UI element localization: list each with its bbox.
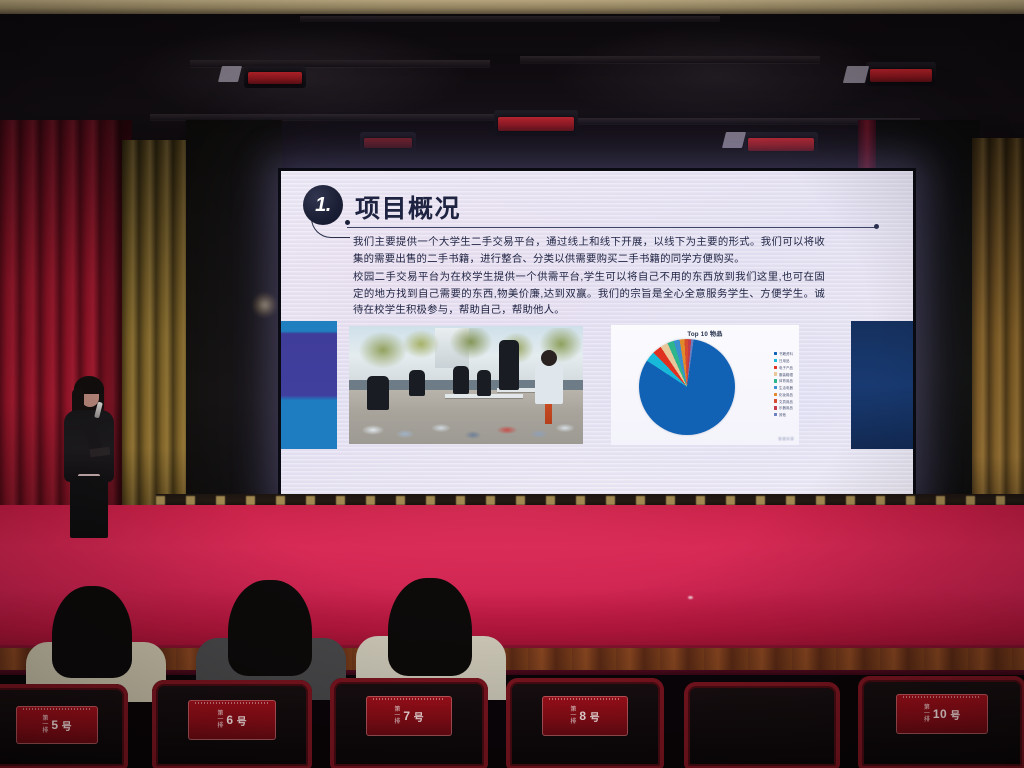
legend-swatch	[774, 352, 777, 355]
legend-swatch	[774, 413, 777, 416]
photo-person-light-shirt	[535, 364, 563, 404]
barn-door-flap	[218, 66, 242, 82]
plate-dot-border	[903, 696, 981, 698]
photo-person-head	[541, 350, 557, 366]
photo-person	[453, 366, 469, 394]
legend-label: 书籍资料	[779, 351, 793, 356]
projection-screen: 1. 项目概况 我们主要提供一个大学生二手交易平台，通过线上和线下开展，以线下为…	[278, 168, 916, 504]
slide-body-text: 我们主要提供一个大学生二手交易平台，通过线上和线下开展，以线下为主要的形式。我们…	[353, 235, 825, 321]
legend-item: 乐器用品	[774, 405, 793, 410]
legend-item: 化妆用品	[774, 392, 793, 397]
legend-item: 体育用品	[774, 378, 793, 383]
seat-unit: 号	[237, 713, 247, 728]
legend-item: 日用品	[774, 358, 793, 363]
presentation-slide: 1. 项目概况 我们主要提供一个大学生二手交易平台，通过线上和线下开展，以线下为…	[281, 171, 913, 501]
theater-seat[interactable]	[684, 682, 840, 768]
seat-unit: 号	[950, 707, 960, 722]
wall-spot-glow	[252, 292, 278, 318]
theater-seat[interactable]: 第 一 排 5 号	[0, 684, 128, 768]
chart-watermark: 数据来源	[778, 437, 794, 442]
seat-row-label: 第一排	[570, 707, 576, 726]
legend-item: 生活电器	[774, 385, 793, 390]
pie-chart	[639, 339, 735, 435]
stage-lamp	[870, 69, 932, 82]
stage-lamp	[748, 138, 814, 151]
seat-row-label: 第一排	[217, 711, 223, 730]
seat-row-char-3: 排	[42, 728, 48, 734]
slide-photo-flea-market	[349, 326, 583, 444]
legend-swatch	[774, 372, 777, 375]
legend-swatch	[774, 366, 777, 369]
decorative-color-block-left	[281, 321, 337, 449]
legend-label: 化妆用品	[779, 392, 793, 397]
slide-title: 项目概况	[355, 189, 461, 225]
plate-dot-border	[373, 698, 445, 700]
photo-person	[409, 370, 425, 396]
plate-dot-border	[549, 698, 621, 700]
legend-label: 日用品	[779, 358, 789, 363]
legend-label: 电子产品	[779, 365, 793, 370]
theater-seat[interactable]: 第一排 6 号	[152, 680, 312, 768]
audience-member	[26, 586, 166, 696]
plate-dot-border	[23, 708, 91, 710]
seat-number-plate: 第一排 6 号	[188, 700, 276, 740]
legend-item: 服装鞋帽	[774, 371, 793, 376]
stage-edge-lights	[156, 496, 1024, 505]
seat-number-plate: 第一排 7 号	[366, 696, 452, 736]
legend-label: 文具用品	[779, 399, 793, 404]
photo-goods-on-ground	[349, 404, 583, 444]
barn-door-flap	[722, 132, 746, 148]
seat-unit: 号	[62, 718, 72, 733]
auditorium-scene: 1. 项目概况 我们主要提供一个大学生二手交易平台，通过线上和线下开展，以线下为…	[0, 0, 1024, 768]
theater-seat[interactable]: 第一排 8 号	[506, 678, 664, 768]
seat-number: 8	[579, 709, 586, 723]
theater-seat[interactable]: 第一排 7 号	[330, 678, 488, 768]
theater-seat[interactable]: 第一排 10 号	[858, 676, 1024, 768]
stage-lamp	[364, 138, 412, 148]
seat-row-label: 第一排	[924, 705, 930, 724]
legend-swatch	[774, 379, 777, 382]
seat-row-label: 第一排	[394, 707, 400, 726]
photo-person	[477, 370, 491, 396]
audience-member	[196, 580, 346, 696]
seat-number: 7	[403, 709, 410, 723]
title-rule-end-dot	[874, 224, 879, 229]
legend-item: 其他	[774, 412, 793, 417]
floor-debris	[688, 596, 693, 599]
legend-item: 书籍资料	[774, 351, 793, 356]
seat-unit: 号	[590, 709, 600, 724]
photo-person-standing	[499, 340, 519, 390]
seat-unit: 号	[414, 709, 424, 724]
legend-label: 服装鞋帽	[779, 372, 793, 377]
legend-swatch	[774, 406, 777, 409]
legend-swatch	[774, 399, 777, 402]
legend-label: 其他	[779, 412, 786, 417]
slide-paragraph-1: 我们主要提供一个大学生二手交易平台，通过线上和线下开展，以线下为主要的形式。我们…	[353, 235, 825, 269]
seat-number-plate: 第 一 排 5 号	[16, 706, 98, 744]
stage-lamp	[248, 72, 302, 84]
legend-item: 电子产品	[774, 365, 793, 370]
legend-swatch	[774, 386, 777, 389]
pie-chart-card: Top 10 物品 书籍资料日用品电子产品服装鞋帽体育用品生活电器化妆用品文具用…	[611, 325, 799, 445]
plate-dot-border	[195, 702, 269, 704]
audience-hair	[388, 578, 472, 676]
legend-label: 生活电器	[779, 385, 793, 390]
legend-item: 文具用品	[774, 398, 793, 403]
presenter-speaking	[56, 376, 128, 536]
title-underline-rule	[347, 227, 877, 228]
audience-hair	[228, 580, 312, 676]
slide-number-badge: 1.	[303, 185, 343, 225]
legend-swatch	[774, 359, 777, 362]
slide-paragraph-2: 校园二手交易平台为在校学生提供一个供需平台,学生可以将自己不用的东西放到我们这里…	[353, 270, 825, 321]
legend-swatch	[774, 393, 777, 396]
seat-row-label: 第 一 排	[42, 716, 48, 735]
legend-label: 体育用品	[779, 378, 793, 383]
audience-hair	[52, 586, 132, 678]
presenter-trousers	[70, 476, 108, 538]
seat-number: 6	[226, 713, 233, 727]
barn-door-flap	[843, 66, 869, 83]
seat-number: 10	[933, 707, 947, 721]
stage-lamp	[498, 117, 574, 131]
seat-number-plate: 第一排 8 号	[542, 696, 628, 736]
legend-label: 乐器用品	[779, 405, 793, 410]
chart-title: Top 10 物品	[611, 329, 799, 338]
decorative-color-block-right	[851, 321, 913, 449]
pie-chart-legend: 书籍资料日用品电子产品服装鞋帽体育用品生活电器化妆用品文具用品乐器用品其他	[774, 351, 793, 417]
badge-connector-dot	[345, 220, 350, 225]
seat-number: 5	[51, 718, 58, 732]
seat-number-plate: 第一排 10 号	[896, 694, 988, 734]
